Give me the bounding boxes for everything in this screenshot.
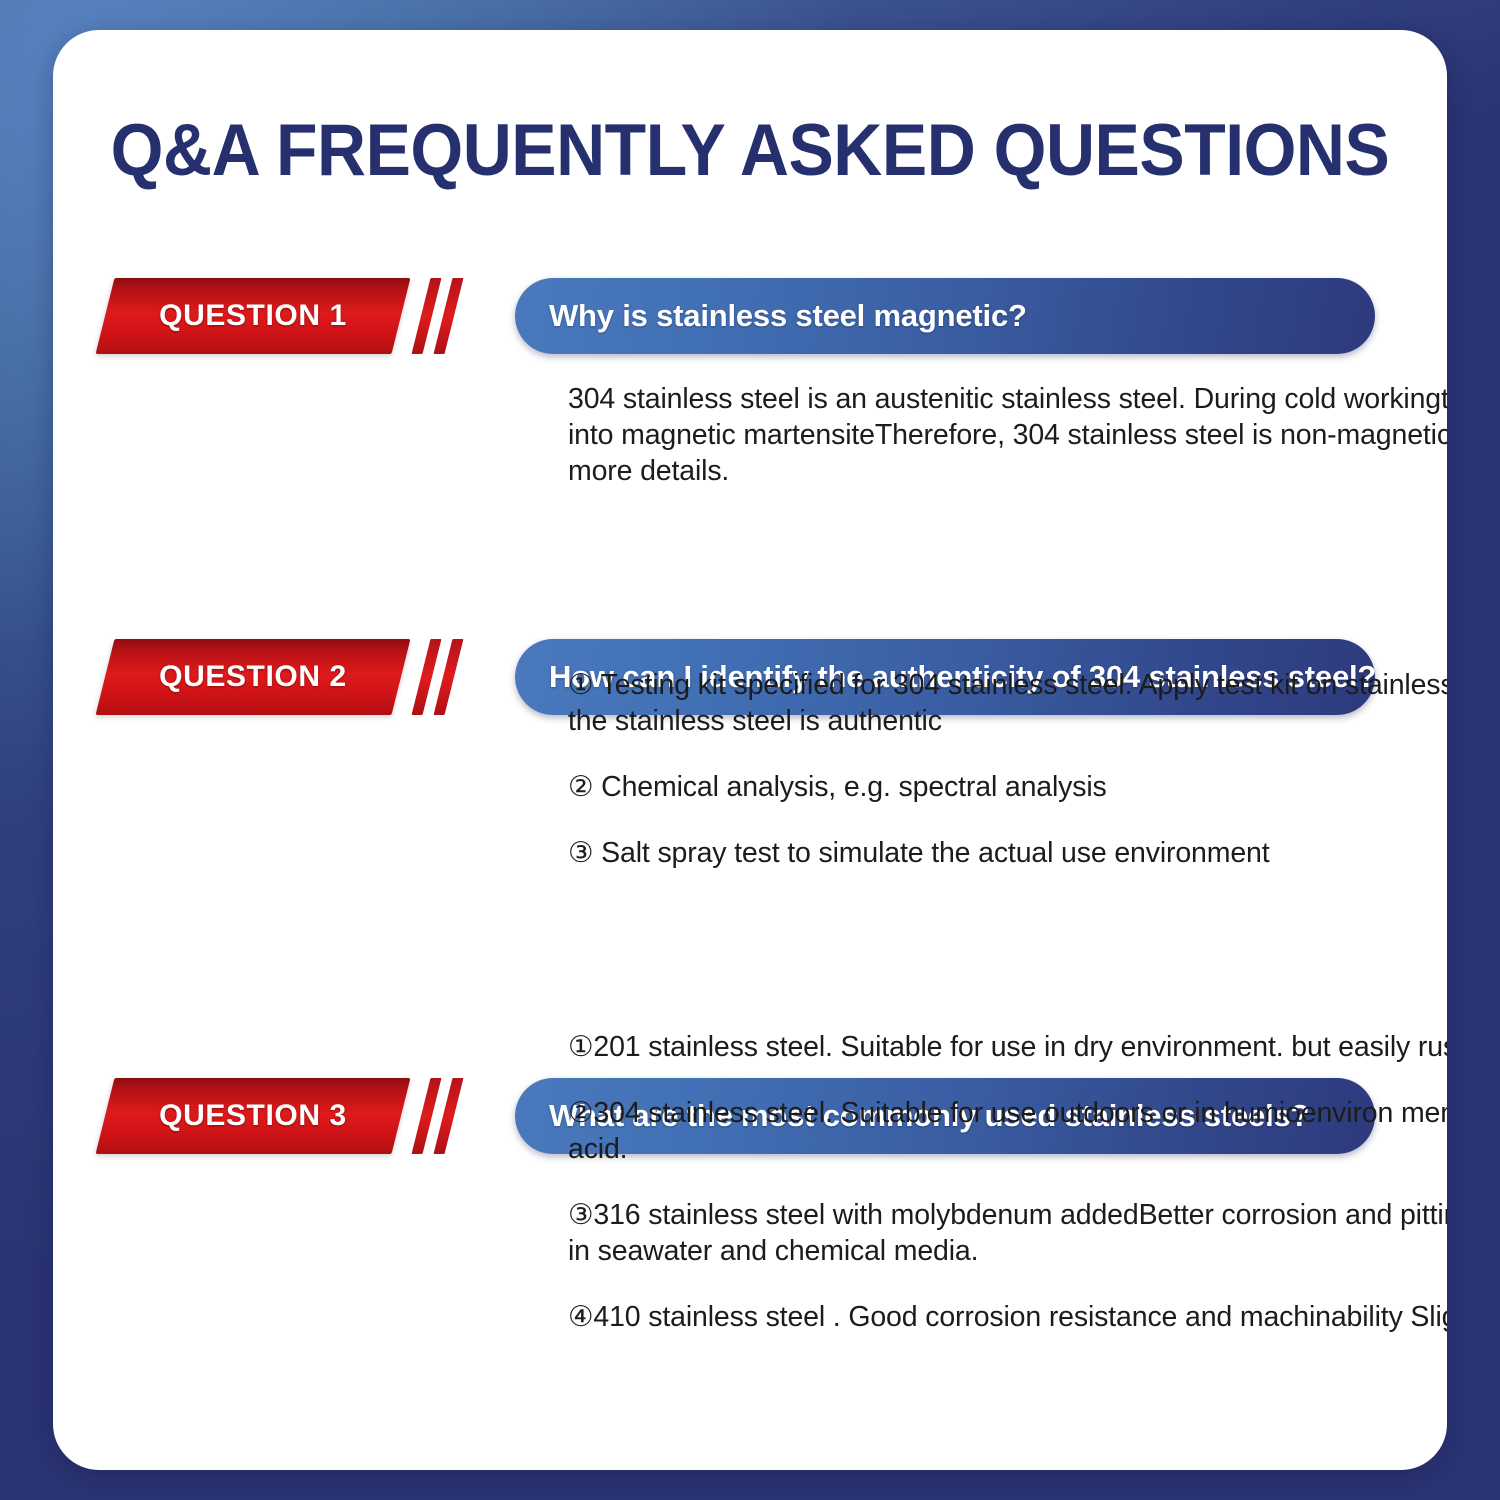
question-tag-3: QUESTION 3 (96, 1078, 411, 1154)
answer-block-3: ①201 stainless steel. Suitable for use i… (568, 1030, 1447, 1335)
answer-block-1: 304 stainless steel is an austenitic sta… (568, 382, 1447, 490)
question-tag-label-1: QUESTION 1 (105, 278, 401, 354)
answer-paragraph: ② Chemical analysis, e.g. spectral analy… (568, 770, 1447, 806)
answer-paragraph: ③316 stainless steel with molybdenum add… (568, 1198, 1447, 1270)
question-pill-1: Why is stainless steel magnetic? (515, 278, 1375, 354)
answer-paragraph: ④410 stainless steel . Good corrosion re… (568, 1300, 1447, 1336)
answer-block-2: ① Testing kit specified for 304 stainles… (568, 668, 1447, 872)
question-tag-label-2: QUESTION 2 (105, 639, 401, 715)
question-text-1: Why is stainless steel magnetic? (549, 298, 1027, 334)
page-title: Q&A FREQUENTLY ASKED QUESTIONS (102, 114, 1398, 187)
answer-paragraph: ②304 stainless steel. Suitable for use o… (568, 1096, 1447, 1168)
question-tag-1: QUESTION 1 (96, 278, 411, 354)
faq-header-1: QUESTION 1 Why is stainless steel magnet… (53, 278, 1447, 354)
answer-paragraph: ③ Salt spray test to simulate the actual… (568, 836, 1447, 872)
question-tag-label-3: QUESTION 3 (105, 1078, 401, 1154)
faq-card: Q&A FREQUENTLY ASKED QUESTIONS QUESTION … (53, 30, 1447, 1470)
answer-paragraph: ① Testing kit specified for 304 stainles… (568, 668, 1447, 740)
question-tag-2: QUESTION 2 (96, 639, 411, 715)
answer-paragraph: 304 stainless steel is an austenitic sta… (568, 382, 1447, 490)
answer-paragraph: ①201 stainless steel. Suitable for use i… (568, 1030, 1447, 1066)
